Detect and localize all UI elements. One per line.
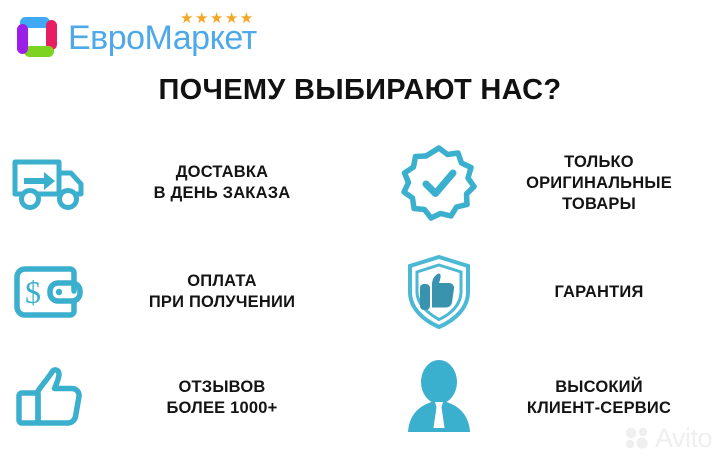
feature-grid: ДОСТАВКА В ДЕНЬ ЗАКАЗА ТОЛЬКО ОРИГИНАЛЬН… bbox=[0, 126, 720, 446]
svg-text:$: $ bbox=[25, 274, 41, 310]
feature-client-service: ВЫСОКИЙ КЛИЕНТ-СЕРВИС bbox=[396, 348, 716, 448]
feature-original-goods: ТОЛЬКО ОРИГИНАЛЬНЫЕ ТОВАРЫ bbox=[396, 132, 716, 234]
verified-badge-icon bbox=[396, 140, 482, 226]
brand-header: ★★★★★ ЕвроМаркет bbox=[8, 6, 328, 66]
feature-label: ДОСТАВКА В ДЕНЬ ЗАКАЗА bbox=[92, 162, 352, 204]
promo-banner: ★★★★★ ЕвроМаркет ПОЧЕМУ ВЫБИРАЮТ НАС? bbox=[0, 0, 720, 458]
feature-label: ОТЗЫВОВ БОЛЕЕ 1000+ bbox=[92, 377, 352, 419]
user-avatar-icon bbox=[396, 355, 482, 441]
thumbs-up-icon bbox=[6, 355, 92, 441]
feature-label: ОПЛАТА ПРИ ПОЛУЧЕНИИ bbox=[92, 271, 352, 313]
shield-thumbsup-icon bbox=[396, 249, 482, 335]
feature-reviews: ОТЗЫВОВ БОЛЕЕ 1000+ bbox=[6, 348, 352, 448]
feature-delivery: ДОСТАВКА В ДЕНЬ ЗАКАЗА bbox=[6, 132, 352, 234]
feature-label: ВЫСОКИЙ КЛИЕНТ-СЕРВИС bbox=[482, 377, 716, 419]
wallet-cash-icon: $ bbox=[6, 249, 92, 335]
brand-name: ЕвроМаркет bbox=[68, 20, 257, 56]
evromarket-logo-icon bbox=[14, 14, 60, 60]
page-title: ПОЧЕМУ ВЫБИРАЮТ НАС? bbox=[0, 74, 720, 107]
feature-label: ГАРАНТИЯ bbox=[482, 282, 716, 303]
feature-label: ТОЛЬКО ОРИГИНАЛЬНЫЕ ТОВАРЫ bbox=[482, 152, 716, 215]
delivery-truck-icon bbox=[6, 140, 92, 226]
feature-warranty: ГАРАНТИЯ bbox=[396, 241, 716, 343]
feature-payment-on-delivery: $ ОПЛАТА ПРИ ПОЛУЧЕНИИ bbox=[6, 241, 352, 343]
